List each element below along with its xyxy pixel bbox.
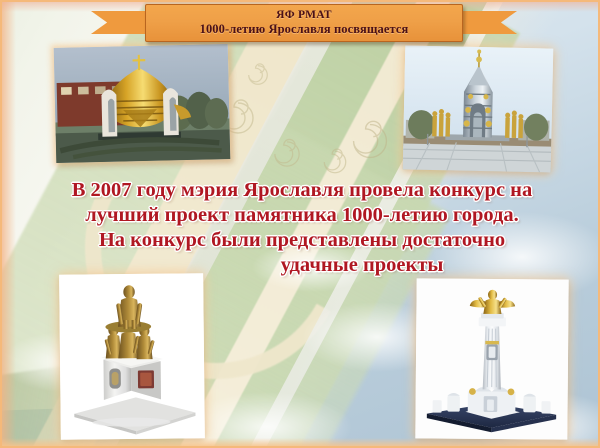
photo-white-column-image [415,278,568,439]
spiral-ornament-icon [347,118,393,164]
spiral-ornament-icon [270,137,304,171]
photo-spire-tower-monument[interactable] [403,45,554,172]
spiral-ornament-icon [245,62,271,88]
golden-dome-monument-illustration [54,44,231,163]
photo-bronze-statue-image [59,273,205,439]
body-text-line-3: На конкурс были представлены достаточно [20,228,584,253]
photo-spire-tower-image [403,45,554,172]
ribbon-body: ЯФ РМАТ 1000-летию Ярославля посвящается [145,4,463,42]
title-ribbon: ЯФ РМАТ 1000-летию Ярославля посвящается [145,4,463,44]
slide-body-text: В 2007 году мэрия Ярославля провела конк… [20,178,584,278]
spiral-ornament-icon [320,147,350,177]
photo-white-column-monument[interactable] [415,278,568,439]
body-text-line-2: лучший проект памятника 1000-летию город… [20,203,584,228]
body-text-line-1: В 2007 году мэрия Ярославля провела конк… [20,178,584,203]
ribbon-title-line1: ЯФ РМАТ [276,10,332,22]
bronze-statue-monument-illustration [59,273,205,439]
body-text-line-4: удачные проекты [20,253,584,278]
photo-golden-dome-monument[interactable] [54,44,231,163]
photo-bronze-statue-monument[interactable] [59,273,205,439]
ribbon-title-line2: 1000-летию Ярославля посвящается [200,23,409,36]
white-column-monument-illustration [415,278,568,439]
spire-tower-monument-illustration [403,45,554,172]
presentation-slide: ЯФ РМАТ 1000-летию Ярославля посвящается [0,0,600,448]
background-edge-tint-left [2,2,16,446]
photo-golden-dome-image [54,44,231,163]
